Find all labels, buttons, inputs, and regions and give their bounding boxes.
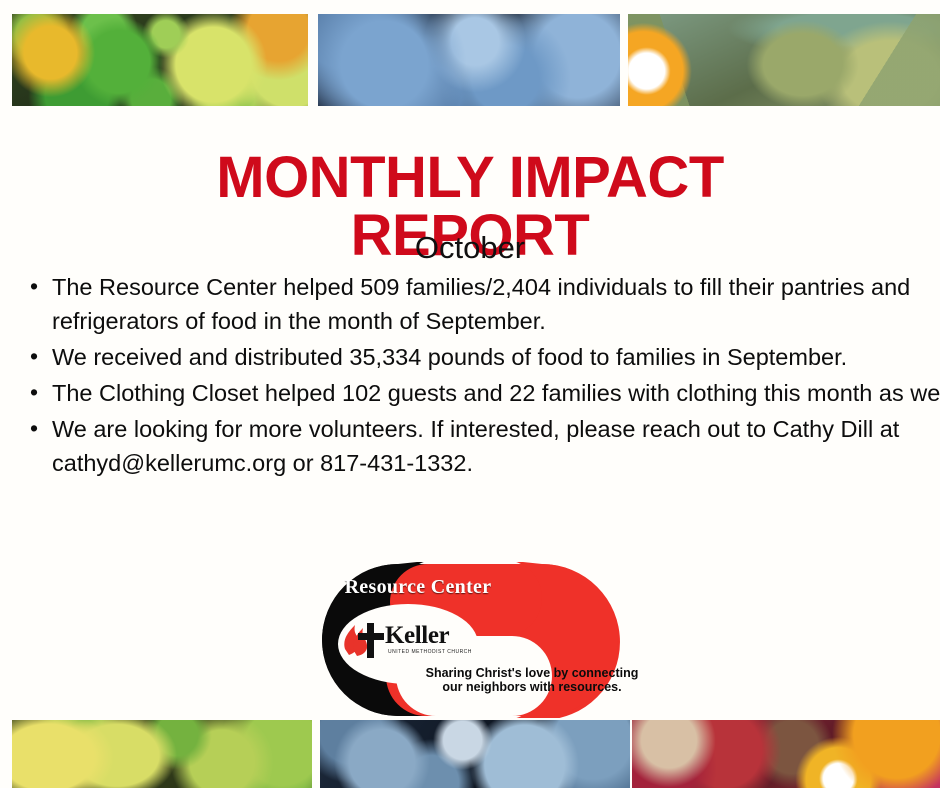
list-item: We are looking for more volunteers. If i… [52,412,940,480]
yellow-green-fruit-photo [12,720,312,788]
bottom-photo-strip-2 [320,720,630,788]
blueberries-photo [320,720,630,788]
bottom-photo-strip-1 [12,720,312,788]
top-photo-strip-2 [318,14,620,106]
resource-center-logo: Resource Center Keller UNITED METHODIST … [286,562,654,718]
page-subtitle: October [0,230,940,266]
list-item: We received and distributed 35,334 pound… [52,340,940,374]
chain-links-icon [286,562,654,718]
orange-slice-agave-photo [628,14,940,106]
list-item: The Resource Center helped 509 families/… [52,270,940,338]
top-photo-strip-3 [628,14,940,106]
citrus-limes-photo [12,14,308,106]
pomegranate-red-fruit-photo [632,720,940,788]
impact-bullet-list: The Resource Center helped 509 families/… [20,270,940,482]
list-item: The Clothing Closet helped 102 guests an… [52,376,940,410]
page-title-line-1: MONTHLY IMPACT [216,145,724,210]
top-photo-strip-1 [12,14,308,106]
bottom-photo-strip-3 [632,720,940,788]
blueberries-soft-focus-photo [318,14,620,106]
flyer-page: MONTHLY IMPACT REPORT October The Resour… [0,0,940,788]
